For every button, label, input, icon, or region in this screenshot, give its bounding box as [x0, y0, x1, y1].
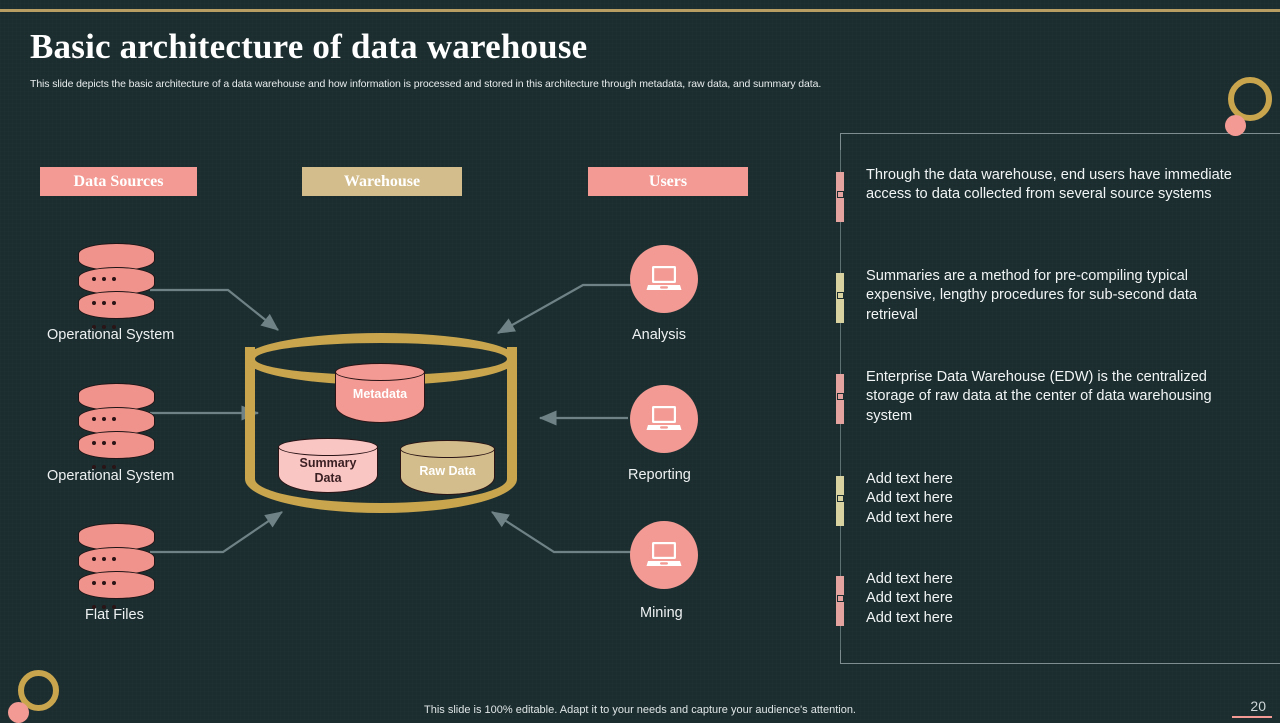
timeline-marker — [836, 476, 844, 526]
footer-note: This slide is 100% editable. Adapt it to… — [0, 704, 1280, 716]
header-chip-warehouse: Warehouse — [302, 167, 462, 196]
laptop-icon — [630, 521, 698, 589]
source-label-3: Flat Files — [85, 607, 144, 623]
header-chip-data-sources: Data Sources — [40, 167, 197, 196]
source-label-2: Operational System — [47, 468, 174, 484]
warehouse-item-metadata: Metadata — [335, 363, 425, 423]
warehouse-item-label: Metadata — [335, 387, 425, 402]
list-item-text: Add text here Add text here Add text her… — [866, 570, 1246, 628]
laptop-icon — [630, 245, 698, 313]
warehouse-item-label: Raw Data — [400, 464, 495, 479]
laptop-icon — [630, 385, 698, 453]
timeline-marker — [836, 374, 844, 424]
page-number: 20 — [1250, 698, 1266, 714]
decorative-dot-top-right — [1225, 115, 1246, 136]
database-stack-icon — [78, 383, 155, 459]
timeline-marker — [836, 273, 844, 323]
page-title: Basic architecture of data warehouse — [30, 27, 587, 67]
warehouse-item-summary-data: SummaryData — [278, 438, 378, 493]
page-subtitle: This slide depicts the basic architectur… — [30, 78, 980, 90]
timeline-marker — [836, 172, 844, 222]
user-label-analysis: Analysis — [632, 327, 686, 343]
user-label-mining: Mining — [640, 605, 683, 621]
top-accent-line — [0, 9, 1280, 12]
warehouse-item-raw-data: Raw Data — [400, 440, 495, 495]
list-item-text: Add text here Add text here Add text her… — [866, 470, 1246, 528]
page-number-rule — [1232, 716, 1272, 718]
database-stack-icon — [78, 523, 155, 599]
list-item-text: Through the data warehouse, end users ha… — [866, 166, 1246, 205]
header-chip-users: Users — [588, 167, 748, 196]
database-stack-icon — [78, 243, 155, 319]
list-item-text: Summaries are a method for pre-compiling… — [866, 267, 1246, 325]
user-label-reporting: Reporting — [628, 467, 691, 483]
timeline-marker — [836, 576, 844, 626]
list-item-text: Enterprise Data Warehouse (EDW) is the c… — [866, 368, 1246, 426]
warehouse-item-label: SummaryData — [278, 456, 378, 486]
source-label-1: Operational System — [47, 327, 174, 343]
